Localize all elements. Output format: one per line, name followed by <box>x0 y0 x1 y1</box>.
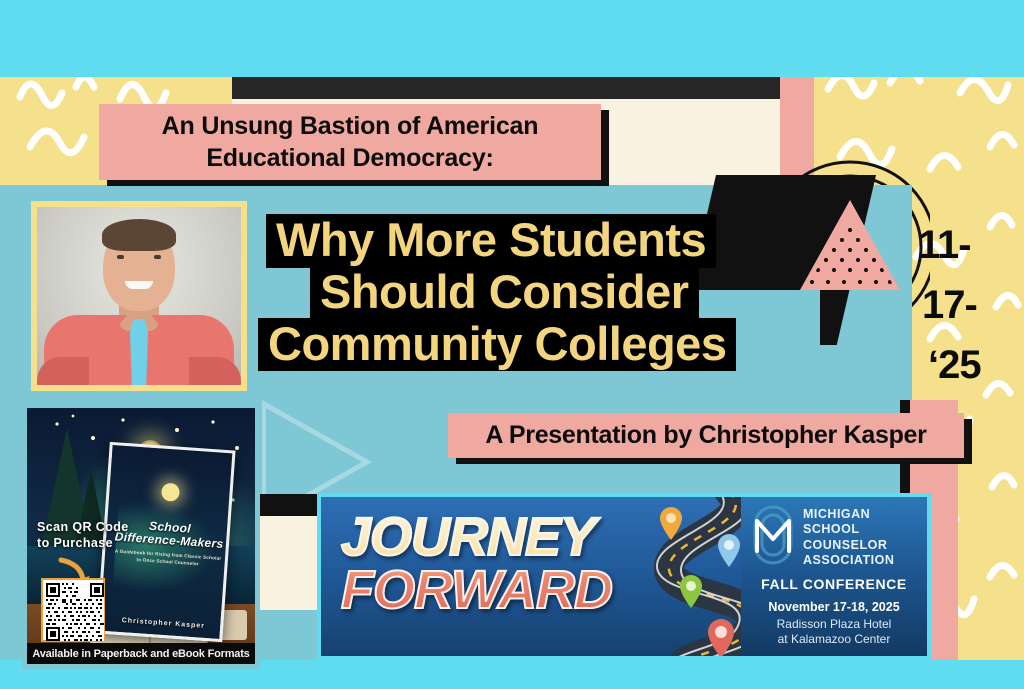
scan-qr-line-2: to Purchase <box>37 536 145 552</box>
subtitle-banner: An Unsung Bastion of American Educationa… <box>99 104 601 180</box>
journey-line-1: JOURNEY <box>341 511 661 564</box>
msca-org-line-3: COUNSELOR <box>803 538 894 553</box>
headshot-arm-left <box>37 357 89 391</box>
journey-line-2: FORWARD <box>341 564 661 617</box>
date-line-2: 17- <box>918 275 1004 335</box>
book-cover-author: Christopher Kasper <box>108 616 218 631</box>
map-pin-orange <box>660 507 682 540</box>
msca-org-line-1: MICHIGAN <box>803 507 894 522</box>
headshot-collar-left <box>105 315 127 343</box>
msca-info-panel: MICHIGAN SCHOOL COUNSELOR ASSOCIATION FA… <box>741 497 927 656</box>
msca-logo-icon <box>749 505 797 565</box>
cream-card-decoration <box>252 494 318 610</box>
scan-qr-callout: Scan QR Code to Purchase <box>37 520 145 551</box>
event-date-stack: 11- 17- ‘25 <box>918 215 1004 395</box>
headshot-collar-right <box>151 315 173 343</box>
conference-event-label: FALL CONFERENCE <box>749 576 919 592</box>
map-pin-blue <box>718 534 740 567</box>
headshot-smile <box>125 281 153 289</box>
conference-venue: Radisson Plaza Hotel at Kalamazoo Center <box>749 617 919 648</box>
map-pin-green <box>680 575 702 608</box>
headshot-hair <box>102 219 176 251</box>
background-black-top-bar <box>232 77 784 99</box>
title-line-1: Why More Students <box>266 214 716 268</box>
title-line-2: Should Consider <box>310 266 699 320</box>
conference-banner[interactable]: JOURNEY FORWARD MICHIGAN SCHOOL COUNSELO… <box>317 493 931 660</box>
qr-code[interactable] <box>41 578 105 642</box>
msca-org-line-2: SCHOOL <box>803 522 894 537</box>
journey-forward-title: JOURNEY FORWARD <box>341 511 661 617</box>
headshot-eye-left <box>117 255 124 259</box>
conference-venue-line-1: Radisson Plaza Hotel <box>749 617 919 632</box>
map-pin-red <box>708 619 734 658</box>
presenter-headshot <box>31 201 247 391</box>
presenter-banner: A Presentation by Christopher Kasper <box>448 413 964 458</box>
subtitle-line-1: An Unsung Bastion of American <box>162 110 539 142</box>
conference-date: November 17-18, 2025 <box>749 600 919 614</box>
background-cyan-top-bar <box>0 0 1024 77</box>
date-line-1: 11- <box>918 215 1004 275</box>
msca-org-line-4: ASSOCIATION <box>803 553 894 568</box>
conference-venue-line-2: at Kalamazoo Center <box>749 632 919 647</box>
scan-qr-line-1: Scan QR Code <box>37 520 145 536</box>
presenter-label: A Presentation by Christopher Kasper <box>485 421 926 450</box>
book-promo-card[interactable]: School Difference-Makers A Guidebook for… <box>22 403 260 669</box>
book-promo-footer: Available in Paperback and eBook Formats <box>27 643 255 664</box>
poster-canvas: An Unsung Bastion of American Educationa… <box>0 0 1024 689</box>
page-title: Why More Students Should Consider Commun… <box>258 214 778 371</box>
title-line-3: Community Colleges <box>258 318 736 372</box>
headshot-eye-right <box>154 255 161 259</box>
subtitle-line-2: Educational Democracy: <box>206 142 493 174</box>
msca-org-name: MICHIGAN SCHOOL COUNSELOR ASSOCIATION <box>803 505 894 568</box>
date-line-3: ‘25 <box>918 335 1004 395</box>
headshot-necktie <box>130 319 148 391</box>
book-cover-moon <box>161 483 180 502</box>
